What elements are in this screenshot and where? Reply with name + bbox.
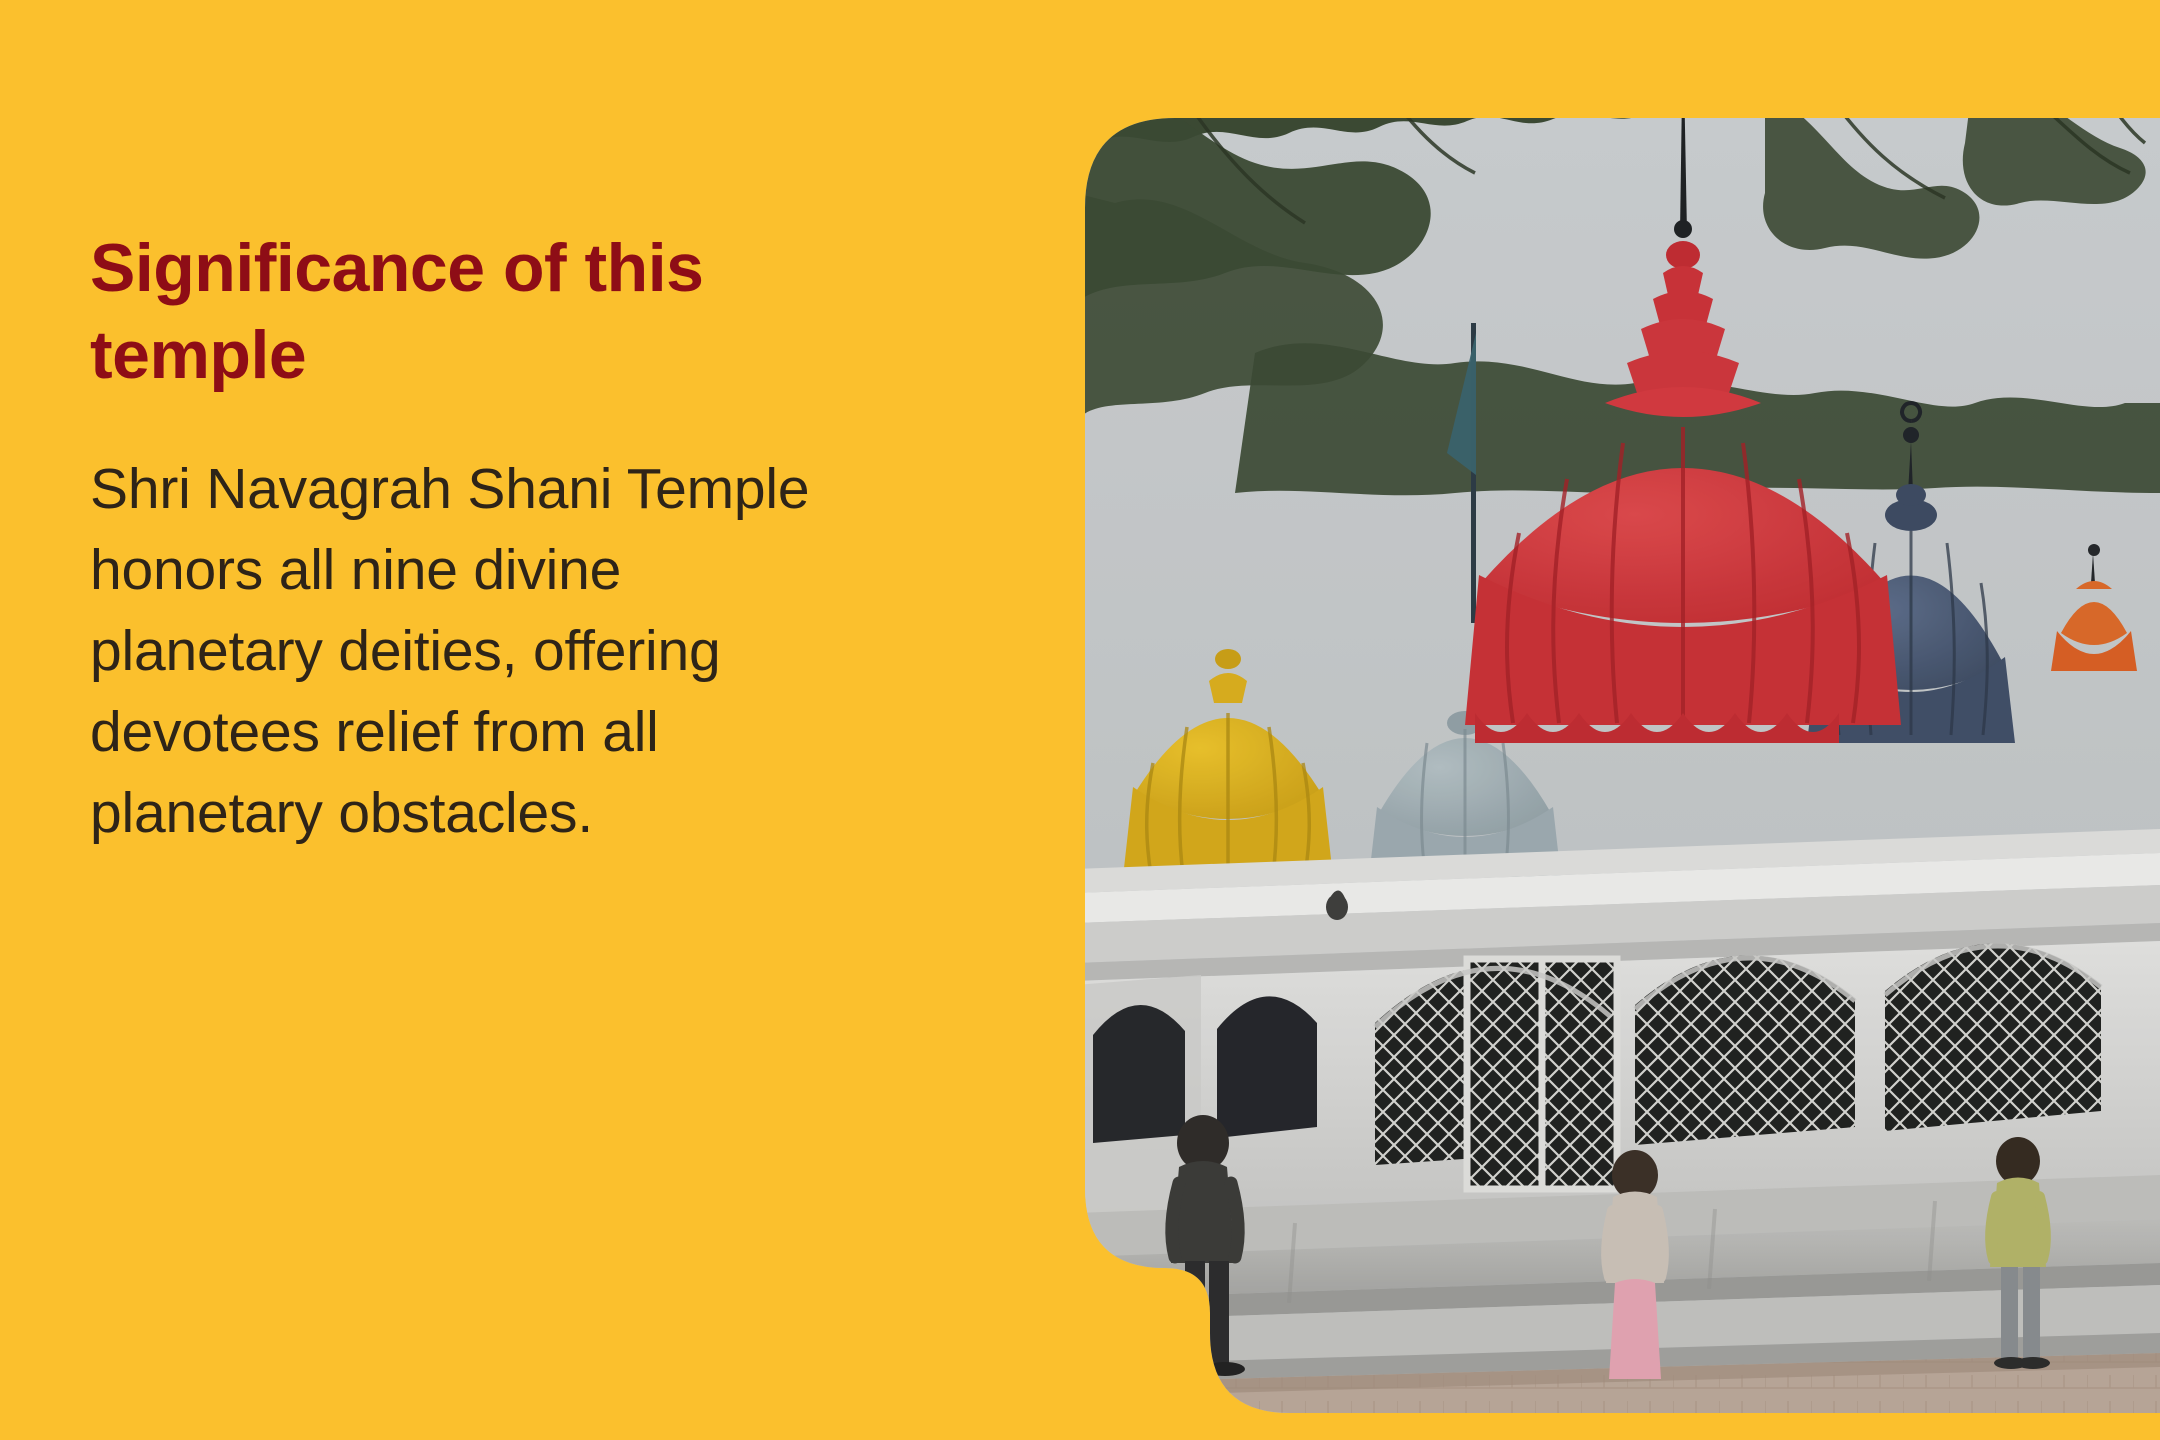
- body-paragraph: Shri Navagrah Shani Temple honors all ni…: [90, 399, 810, 854]
- slide-canvas: Significance of this temple Shri Navagra…: [0, 0, 2160, 1440]
- temple-photo: [1075, 23, 2160, 1413]
- text-column: Significance of this temple Shri Navagra…: [0, 0, 1090, 1440]
- page-title: Significance of this temple: [90, 0, 850, 399]
- temple-photo-illustration: [1075, 23, 2160, 1413]
